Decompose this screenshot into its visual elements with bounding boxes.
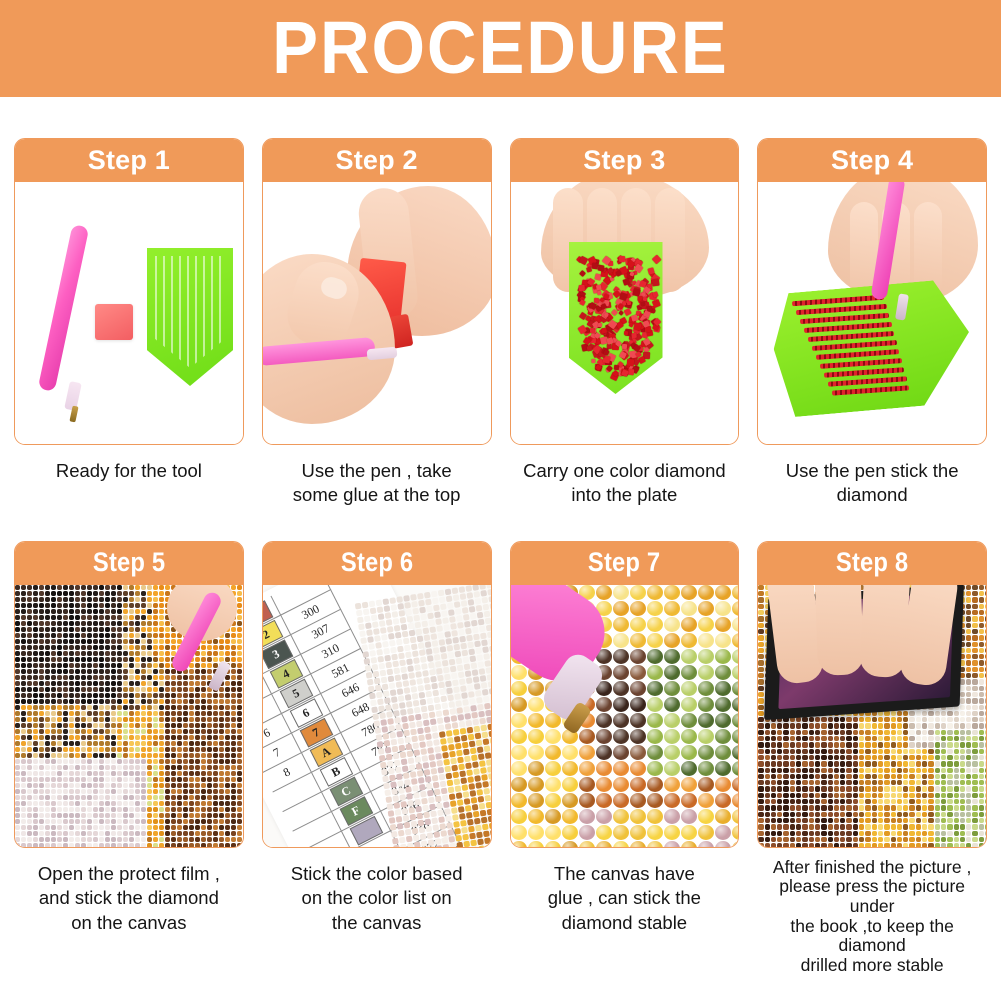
step-header-3: Step 3 xyxy=(510,138,740,182)
step-label-4: Step 4 xyxy=(831,147,913,174)
steps-row-bottom: Step 5 Open the protect film , and stick… xyxy=(0,541,1001,976)
procedure-infographic: PROCEDURE Step 1 xyxy=(0,0,1001,1001)
pressing-with-book-photo xyxy=(758,585,986,847)
step-caption-5: Open the protect film , and stick the di… xyxy=(14,862,244,935)
step-cell-5: Step 5 Open the protect film , and stick… xyxy=(14,541,244,976)
step-card-1: Step 1 xyxy=(14,138,244,445)
step-card-8: Step 8 xyxy=(757,541,987,848)
round-drills-closeup-photo xyxy=(511,585,739,847)
step-caption-2: Use the pen , take some glue at the top xyxy=(262,459,492,508)
step-card-2: Step 2 xyxy=(262,138,492,445)
step-card-5: Step 5 xyxy=(14,541,244,848)
diamond-painting-tools-photo xyxy=(15,182,243,444)
step-caption-4: Use the pen stick the diamond xyxy=(757,459,987,508)
step-cell-8: Step 8 After finished the picture , plea… xyxy=(757,541,987,976)
step-cell-7: Step 7 The canvas have glue , can stick … xyxy=(510,541,740,976)
step-cell-3: Step 3 Carry one color diamond into the … xyxy=(510,138,740,508)
page-header-banner: PROCEDURE xyxy=(0,0,1001,97)
canvas-sunflower-mosaic-photo xyxy=(15,585,243,847)
step-caption-7: The canvas have glue , can stick the dia… xyxy=(510,862,740,935)
step-cell-6: Step 6 112230033307443105558166646776488… xyxy=(262,541,492,976)
step-header-1: Step 1 xyxy=(14,138,244,182)
step-header-7: Step 7 xyxy=(510,541,740,585)
step-label-6: Step 6 xyxy=(340,549,412,576)
step-cell-2: Step 2 Use the pen , xyxy=(262,138,492,508)
step-header-8: Step 8 xyxy=(757,541,987,585)
step-label-2: Step 2 xyxy=(336,147,418,174)
step-header-2: Step 2 xyxy=(262,138,492,182)
step-caption-1: Ready for the tool xyxy=(14,459,244,483)
pink-pen-icon xyxy=(38,224,90,392)
steps-row-top: Step 1 Ready for the tool xyxy=(0,138,1001,508)
pen-picking-glue-photo xyxy=(263,182,491,444)
glue-square-icon xyxy=(95,304,133,340)
step-label-5: Step 5 xyxy=(93,549,165,576)
step-caption-3: Carry one color diamond into the plate xyxy=(510,459,740,508)
color-chart-photo: 112230033307443105558166646776488A780B78… xyxy=(263,585,491,847)
pen-picking-diamond-photo xyxy=(758,182,986,444)
step-caption-8: After finished the picture , please pres… xyxy=(757,858,987,976)
step-header-5: Step 5 xyxy=(14,541,244,585)
step-header-6: Step 6 xyxy=(262,541,492,585)
step-label-1: Step 1 xyxy=(88,147,170,174)
left-middle-finger-icon xyxy=(814,585,864,676)
step-caption-6: Stick the color based on the color list … xyxy=(262,862,492,935)
step-card-3: Step 3 xyxy=(510,138,740,445)
step-label-8: Step 8 xyxy=(836,549,908,576)
page-title: PROCEDURE xyxy=(272,11,728,85)
step-label-3: Step 3 xyxy=(583,147,665,174)
step-cell-4: Step 4 Use the pen stick the diamo xyxy=(757,138,987,508)
step-cell-1: Step 1 Ready for the tool xyxy=(14,138,244,508)
step-card-4: Step 4 xyxy=(757,138,987,445)
diamonds-in-tray-photo xyxy=(511,182,739,444)
step-header-4: Step 4 xyxy=(757,138,987,182)
step-card-7: Step 7 xyxy=(510,541,740,848)
step-label-7: Step 7 xyxy=(588,549,660,576)
step-card-6: Step 6 112230033307443105558166646776488… xyxy=(262,541,492,848)
